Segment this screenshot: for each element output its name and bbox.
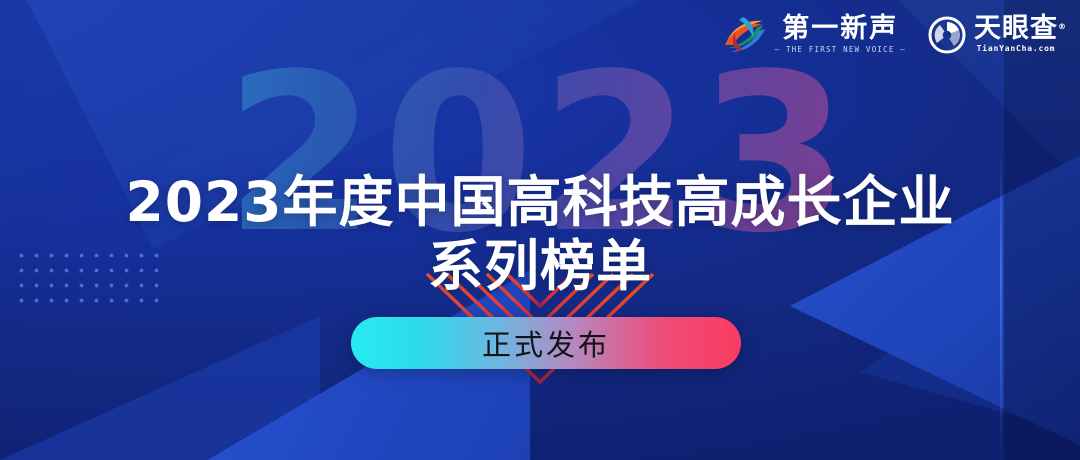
release-status-label: 正式发布 bbox=[482, 322, 610, 364]
swirl-ribbon-icon bbox=[723, 15, 767, 55]
title-line-1: 2023年度中国高科技高成长企业 bbox=[125, 170, 954, 234]
promo-banner: 2023 2023年度中国高科技 bbox=[0, 0, 1080, 460]
partner-logos: 第一新声 — THE FIRST NEW VOICE — 天眼查 ® TianY… bbox=[723, 14, 1058, 55]
title-line-2: 系列榜单 bbox=[0, 234, 1080, 298]
logo-diyixinsheng[interactable]: 第一新声 — THE FIRST NEW VOICE — bbox=[723, 14, 906, 55]
trademark-symbol: ® bbox=[1058, 13, 1067, 41]
logo-name-cn-text: 天眼查 bbox=[974, 13, 1058, 44]
logo-text-diyixinsheng: 第一新声 — THE FIRST NEW VOICE — bbox=[775, 14, 906, 55]
logo-tianyancha[interactable]: 天眼查 ® TianYanCha.com bbox=[928, 15, 1058, 55]
logo-domain-en: TianYanCha.com bbox=[977, 43, 1056, 55]
logo-text-tianyancha: 天眼查 ® TianYanCha.com bbox=[974, 15, 1058, 55]
logo-name-cn: 第一新声 bbox=[782, 14, 898, 44]
camera-aperture-eye-icon bbox=[928, 16, 966, 54]
logo-name-cn: 天眼查 ® bbox=[974, 15, 1058, 43]
release-status-badge[interactable]: 正式发布 bbox=[351, 317, 741, 369]
logo-tagline-en: — THE FIRST NEW VOICE — bbox=[775, 44, 906, 55]
page-title: 2023年度中国高科技高成长企业 系列榜单 bbox=[0, 170, 1080, 298]
